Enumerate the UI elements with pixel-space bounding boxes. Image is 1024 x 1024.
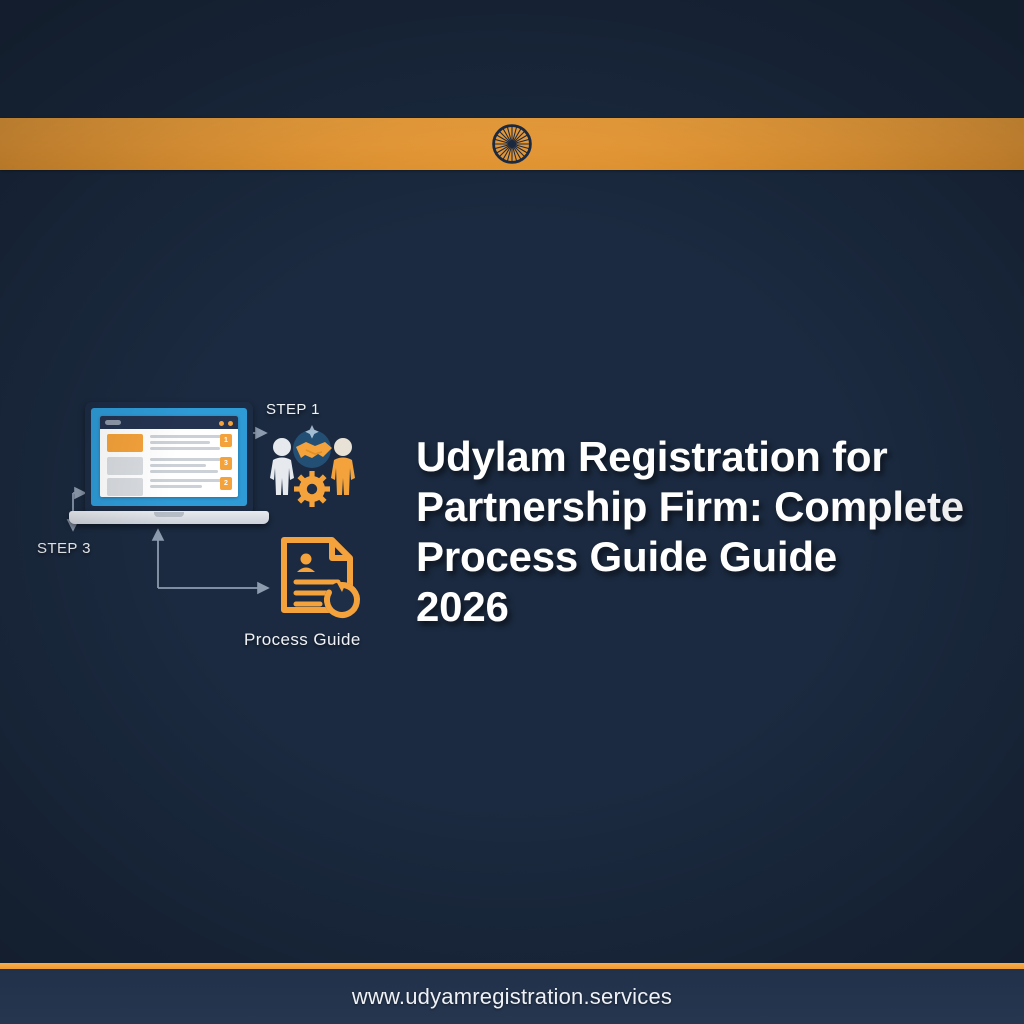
step-1-label: STEP 1 bbox=[266, 401, 320, 418]
browser-url-pill bbox=[105, 420, 121, 425]
process-guide-label: Process Guide bbox=[244, 630, 361, 650]
list-badge-2: 3 bbox=[220, 457, 232, 470]
laptop-notch bbox=[154, 512, 184, 517]
laptop-base bbox=[69, 511, 269, 524]
title-line-4: 2026 bbox=[416, 582, 1006, 632]
poster-canvas: 1 3 2 bbox=[0, 0, 1024, 1024]
ashoka-chakra-icon bbox=[492, 124, 532, 164]
partnership-handshake-icon bbox=[260, 423, 364, 513]
process-illustration: 1 3 2 bbox=[28, 378, 418, 668]
browser-titlebar bbox=[100, 416, 238, 429]
laptop-lid: 1 3 2 bbox=[85, 402, 253, 512]
website-url[interactable]: www.udyamregistration.services bbox=[352, 984, 672, 1010]
content-lines-3 bbox=[150, 479, 228, 491]
browser-dot-2 bbox=[228, 421, 233, 426]
content-lines-2 bbox=[150, 458, 228, 476]
step-3-label: STEP 3 bbox=[37, 540, 91, 557]
process-guide-document-icon bbox=[276, 536, 368, 628]
content-thumb-1 bbox=[107, 434, 143, 452]
top-flag-band bbox=[0, 118, 1024, 170]
page-title: Udylam Registration for Partnership Firm… bbox=[416, 432, 1006, 632]
list-badge-1: 1 bbox=[220, 434, 232, 447]
title-line-3: Process Guide Guide bbox=[416, 532, 1006, 582]
content-thumb-2 bbox=[107, 457, 143, 475]
title-line-1: Udylam Registration for bbox=[416, 432, 1006, 482]
content-thumb-3 bbox=[107, 478, 143, 496]
laptop-screen: 1 3 2 bbox=[91, 408, 247, 506]
browser-dot-1 bbox=[219, 421, 224, 426]
title-line-2: Partnership Firm: Complete bbox=[416, 482, 1006, 532]
footer-bar: www.udyamregistration.services bbox=[0, 969, 1024, 1024]
browser-mockup: 1 3 2 bbox=[100, 416, 238, 497]
content-lines-1 bbox=[150, 435, 228, 453]
list-badge-3: 2 bbox=[220, 477, 232, 490]
